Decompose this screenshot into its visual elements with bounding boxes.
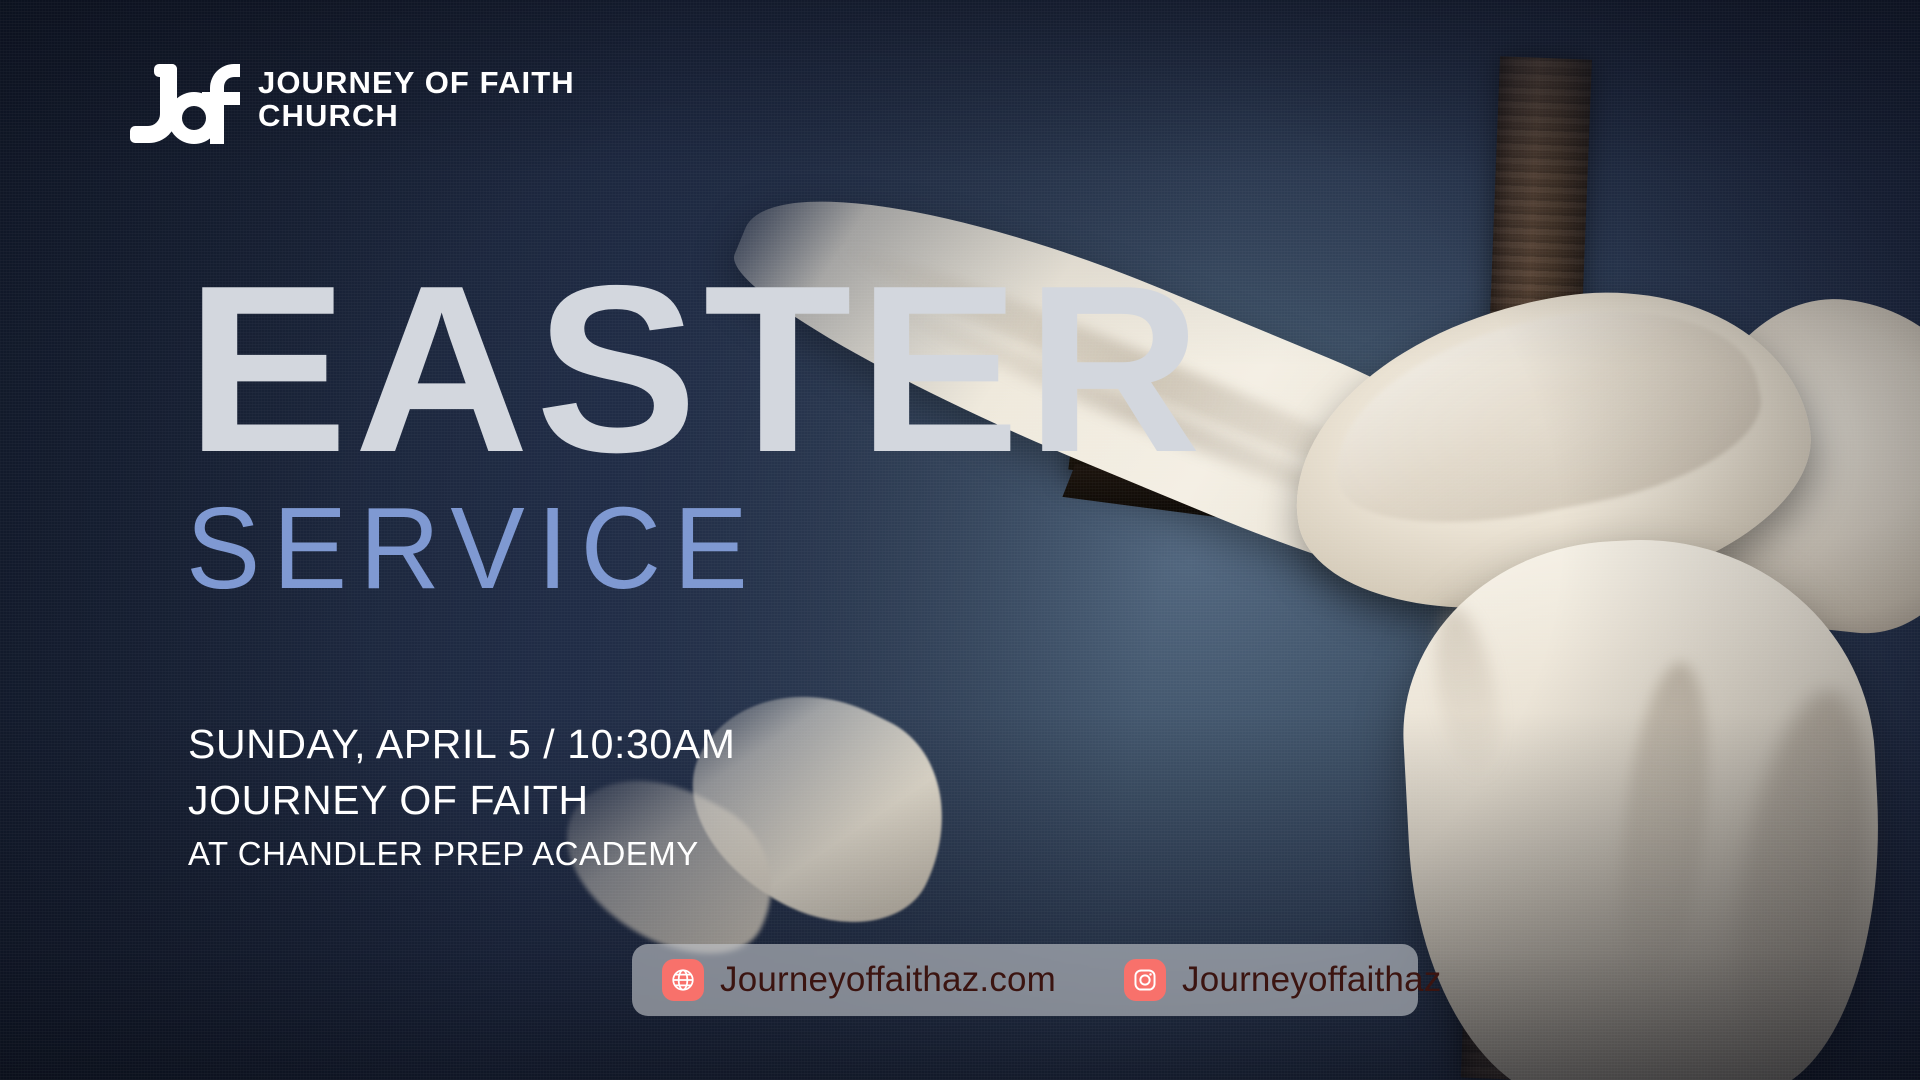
event-venue: AT CHANDLER PREP ACADEMY	[188, 833, 736, 875]
jof-monogram-logo	[128, 62, 240, 148]
brand-name-line1: JOURNEY OF FAITH	[258, 66, 575, 99]
instagram-link[interactable]: Journeyoffaithaz	[1124, 959, 1441, 1001]
event-date-time: SUNDAY, APRIL 5 / 10:30AM	[188, 718, 736, 770]
website-link[interactable]: Journeyoffaithaz.com	[662, 959, 1056, 1001]
contact-bar: Journeyoffaithaz.com Journeyoffaithaz	[632, 944, 1418, 1016]
instagram-icon	[1124, 959, 1166, 1001]
headline-title: EASTER	[186, 270, 1207, 470]
brand-logo-lockup[interactable]: JOURNEY OF FAITH CHURCH	[128, 62, 575, 148]
brand-name-line2: CHURCH	[258, 99, 575, 132]
headline-subtitle: SERVICE	[186, 496, 1147, 600]
event-host: JOURNEY OF FAITH	[188, 774, 736, 826]
brand-name: JOURNEY OF FAITH CHURCH	[258, 62, 575, 133]
event-details-block: SUNDAY, APRIL 5 / 10:30AM JOURNEY OF FAI…	[188, 718, 736, 875]
instagram-label: Journeyoffaithaz	[1182, 960, 1441, 1000]
globe-icon	[662, 959, 704, 1001]
easter-service-flyer: JOURNEY OF FAITH CHURCH EASTER SERVICE S…	[0, 0, 1920, 1080]
website-label: Journeyoffaithaz.com	[720, 960, 1056, 1000]
headline-block: EASTER SERVICE	[186, 270, 1187, 600]
